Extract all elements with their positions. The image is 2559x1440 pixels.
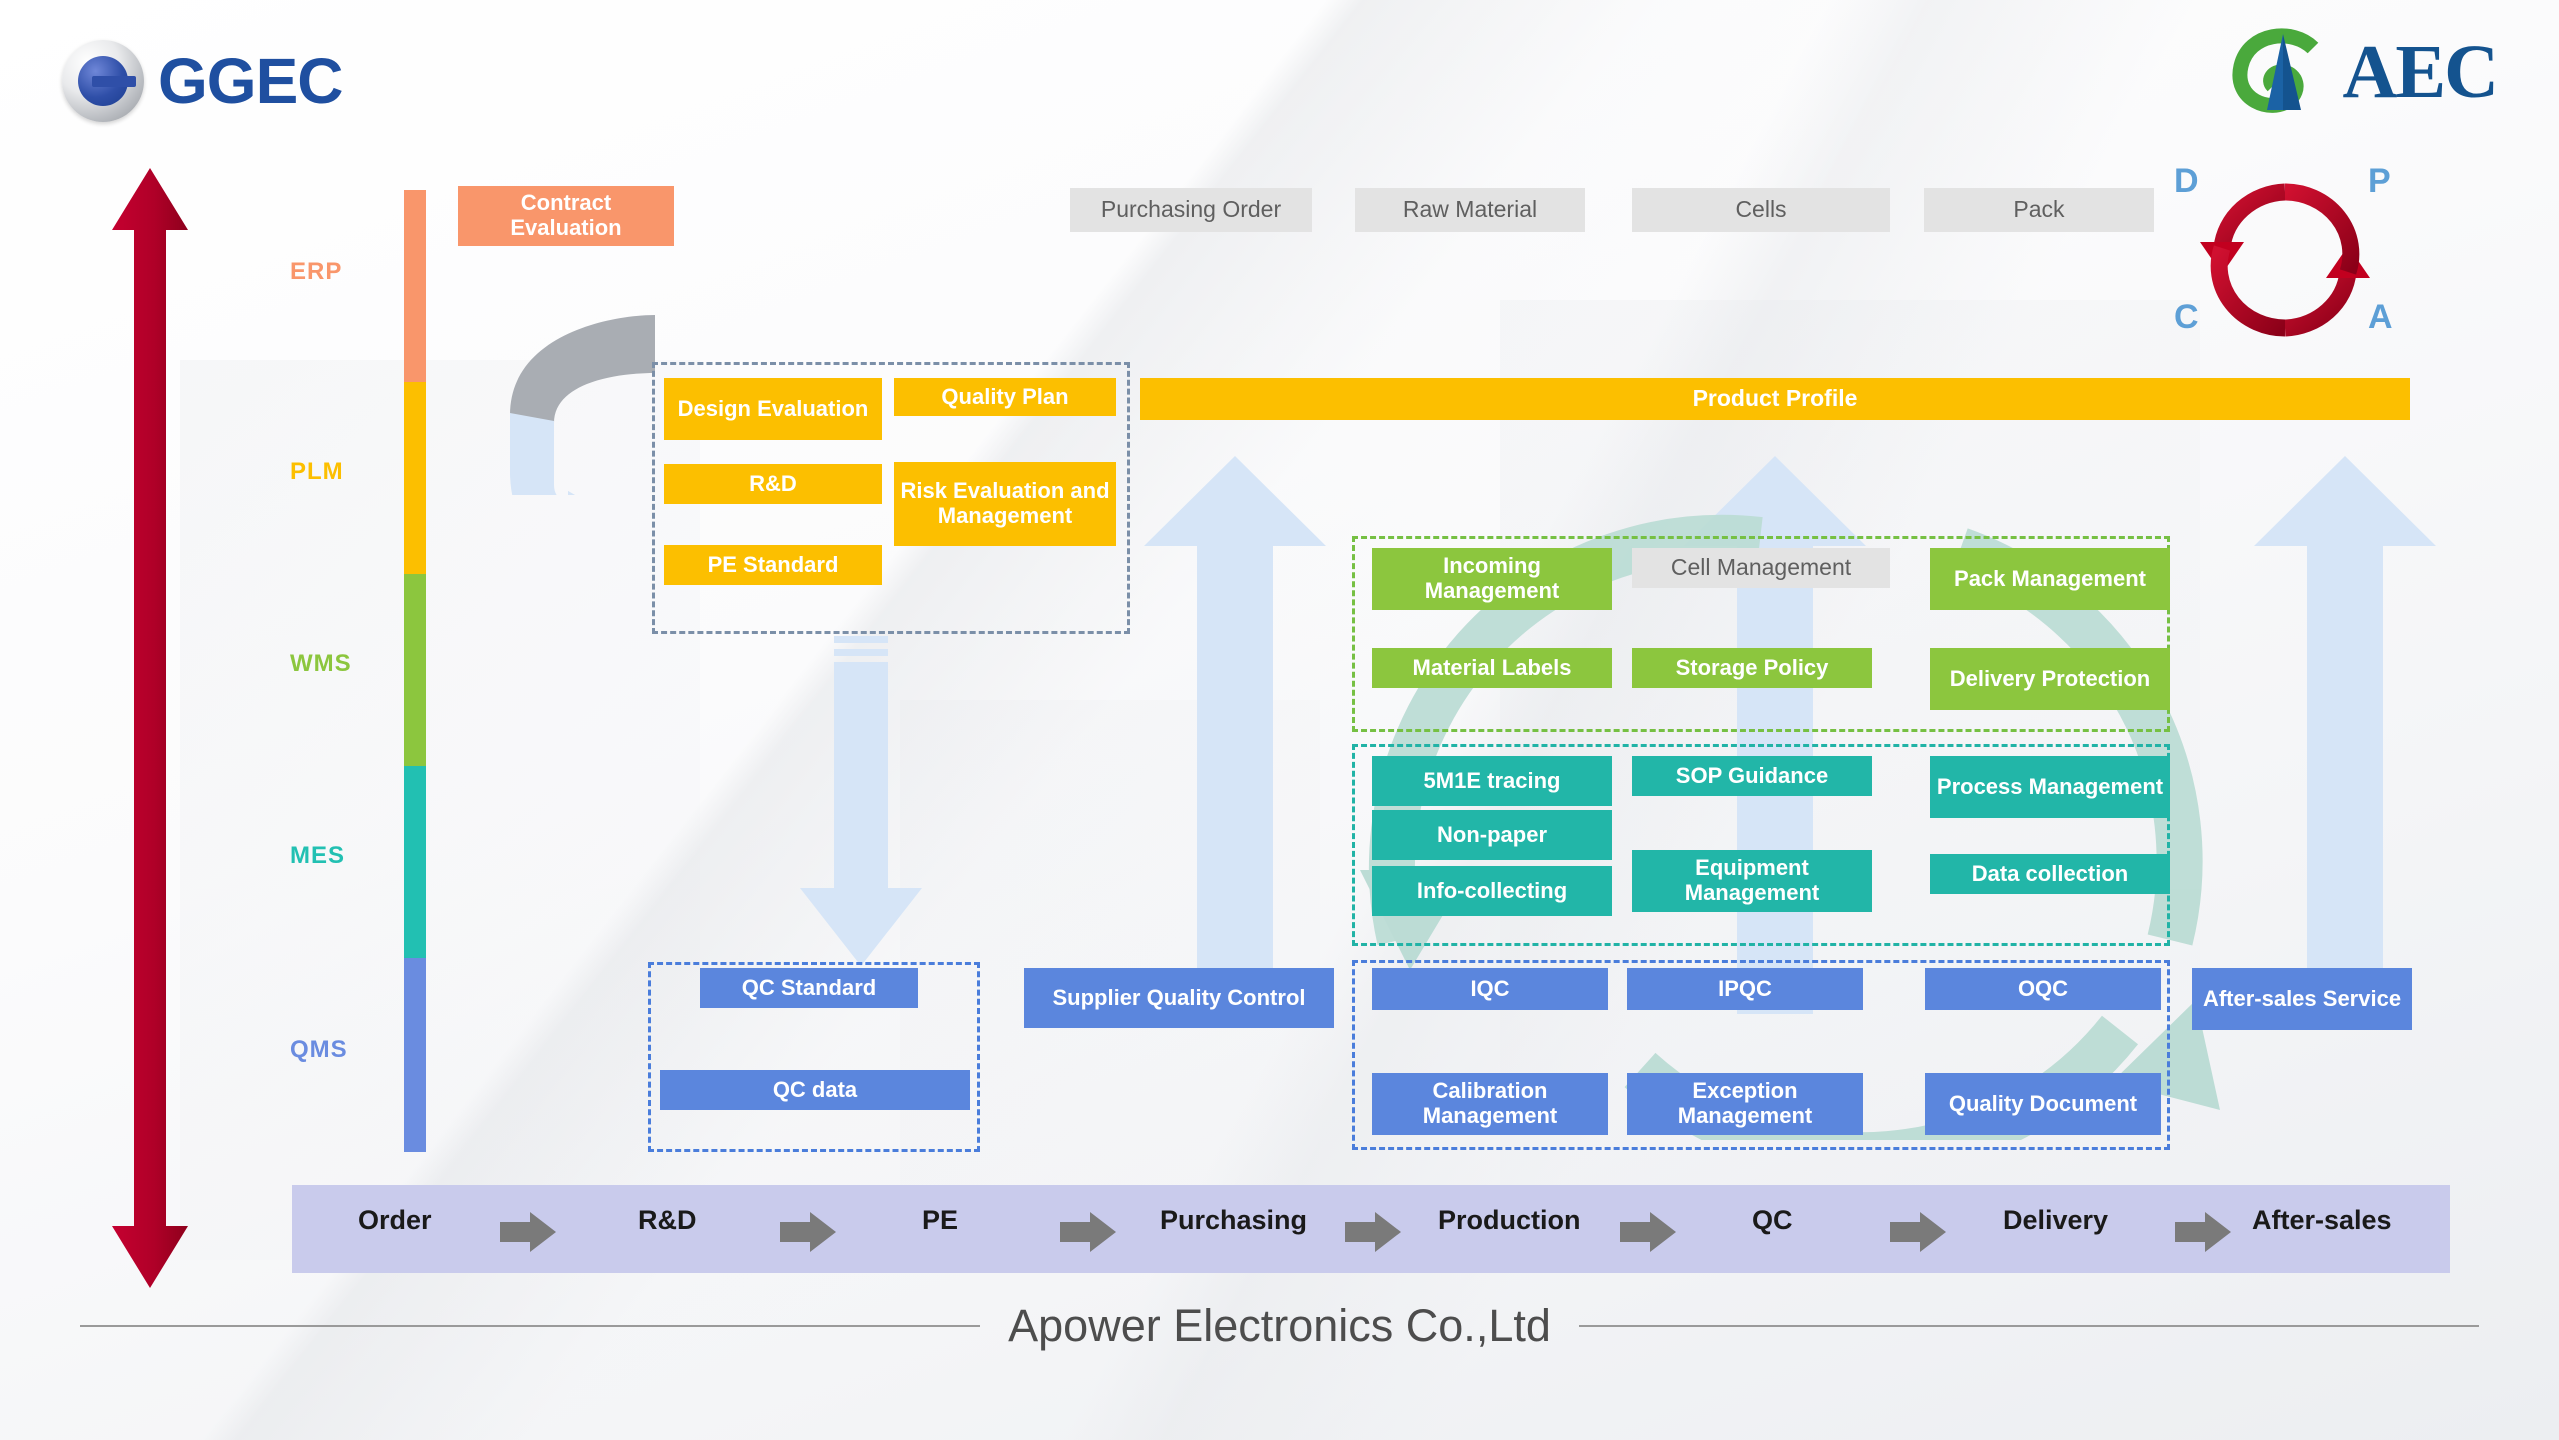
pdca-letter-c: C xyxy=(2174,298,2199,337)
pack-management-box[interactable]: Pack Management xyxy=(1930,548,2170,610)
stage-pack[interactable]: Pack xyxy=(1924,188,2154,232)
flow-arrow-4-icon xyxy=(1345,1212,1401,1252)
flow-step-pe[interactable]: PE xyxy=(922,1205,958,1236)
qc-data-box[interactable]: QC data xyxy=(660,1070,970,1110)
ggec-logo: GGEC xyxy=(62,40,342,122)
storage-policy-box[interactable]: Storage Policy xyxy=(1632,648,1872,688)
flow-step-purchasing[interactable]: Purchasing xyxy=(1160,1205,1307,1236)
data-collection-box[interactable]: Data collection xyxy=(1930,854,2170,894)
pdca-letter-d: D xyxy=(2174,162,2199,201)
flow-arrow-2-icon xyxy=(780,1212,836,1252)
rd-box[interactable]: R&D xyxy=(664,464,882,504)
delivery-protection-box[interactable]: Delivery Protection xyxy=(1930,648,2170,710)
risk-evaluation-box[interactable]: Risk Evaluation and Management xyxy=(894,462,1116,546)
product-profile-bar[interactable]: Product Profile xyxy=(1140,378,2410,420)
flow-step-after-sales[interactable]: After-sales xyxy=(2252,1205,2392,1236)
bg-decor-1 xyxy=(180,360,700,1260)
ipqc-box[interactable]: IPQC xyxy=(1627,968,1863,1010)
aec-wordmark: AEC xyxy=(2343,29,2497,116)
ggec-mark-icon xyxy=(62,40,144,122)
info-collecting-box[interactable]: Info-collecting xyxy=(1372,866,1612,916)
pdca-letter-a: A xyxy=(2368,298,2393,337)
layer-seg-plm xyxy=(404,382,426,574)
calibration-management-box[interactable]: Calibration Management xyxy=(1372,1073,1608,1135)
flow-step-production[interactable]: Production xyxy=(1438,1205,1581,1236)
quality-plan-box[interactable]: Quality Plan xyxy=(894,378,1116,416)
footer-rule-left xyxy=(80,1325,980,1327)
5m1e-tracing-box[interactable]: 5M1E tracing xyxy=(1372,756,1612,806)
layer-label-qms: QMS xyxy=(290,1036,348,1064)
layer-seg-erp xyxy=(404,190,426,382)
exception-management-box[interactable]: Exception Management xyxy=(1627,1073,1863,1135)
stage-purchasing-order[interactable]: Purchasing Order xyxy=(1070,188,1312,232)
cell-management-box[interactable]: Cell Management xyxy=(1632,548,1890,588)
footer-rule-right xyxy=(1579,1325,2479,1327)
flow-step-rd[interactable]: R&D xyxy=(638,1205,697,1236)
incoming-management-box[interactable]: Incoming Management xyxy=(1372,548,1612,610)
pdca-ring-icon xyxy=(2170,170,2400,350)
design-evaluation-box[interactable]: Design Evaluation xyxy=(664,378,882,440)
pe-standard-box[interactable]: PE Standard xyxy=(664,545,882,585)
supplier-quality-control-box[interactable]: Supplier Quality Control xyxy=(1024,968,1334,1028)
stage-cells[interactable]: Cells xyxy=(1632,188,1890,232)
flow-step-order[interactable]: Order xyxy=(358,1205,432,1236)
company-name: Apower Electronics Co.,Ltd xyxy=(1008,1300,1551,1352)
equipment-management-box[interactable]: Equipment Management xyxy=(1632,850,1872,912)
material-labels-box[interactable]: Material Labels xyxy=(1372,648,1612,688)
flow-arrow-5-icon xyxy=(1620,1212,1676,1252)
layer-label-plm: PLM xyxy=(290,458,344,486)
non-paper-box[interactable]: Non-paper xyxy=(1372,810,1612,860)
slide-canvas: GGEC AEC D P C A xyxy=(0,0,2559,1440)
oqc-box[interactable]: OQC xyxy=(1925,968,2161,1010)
stage-raw-material[interactable]: Raw Material xyxy=(1355,188,1585,232)
pdca-letter-p: P xyxy=(2368,162,2391,201)
aec-swirl-icon xyxy=(2227,26,2337,118)
process-management-box[interactable]: Process Management xyxy=(1930,756,2170,818)
layer-seg-wms xyxy=(404,574,426,766)
qc-standard-box[interactable]: QC Standard xyxy=(700,968,918,1008)
iqc-box[interactable]: IQC xyxy=(1372,968,1608,1010)
scope-double-arrow-icon xyxy=(110,168,190,1288)
pdca-cycle: D P C A xyxy=(2170,170,2400,350)
footer: Apower Electronics Co.,Ltd xyxy=(0,1300,2559,1352)
flow-arrow-6-icon xyxy=(1890,1212,1946,1252)
layer-seg-mes xyxy=(404,766,426,958)
layer-label-mes: MES xyxy=(290,842,345,870)
flow-step-qc[interactable]: QC xyxy=(1752,1205,1793,1236)
ggec-wordmark: GGEC xyxy=(158,44,342,118)
flow-arrow-1-icon xyxy=(500,1212,556,1252)
plm-to-qms-down-arrow-icon xyxy=(790,636,930,972)
contract-evaluation-box[interactable]: Contract Evaluation xyxy=(458,186,674,246)
layer-seg-qms xyxy=(404,958,426,1152)
layer-label-erp: ERP xyxy=(290,258,342,286)
sop-guidance-box[interactable]: SOP Guidance xyxy=(1632,756,1872,796)
flow-arrow-7-icon xyxy=(2175,1212,2231,1252)
flow-arrow-3-icon xyxy=(1060,1212,1116,1252)
flow-step-delivery[interactable]: Delivery xyxy=(2003,1205,2108,1236)
aec-logo: AEC xyxy=(2227,26,2497,118)
layer-color-bar xyxy=(404,190,426,1152)
after-sales-service-box[interactable]: After-sales Service xyxy=(2192,968,2412,1030)
quality-document-box[interactable]: Quality Document xyxy=(1925,1073,2161,1135)
layer-label-wms: WMS xyxy=(290,650,352,678)
